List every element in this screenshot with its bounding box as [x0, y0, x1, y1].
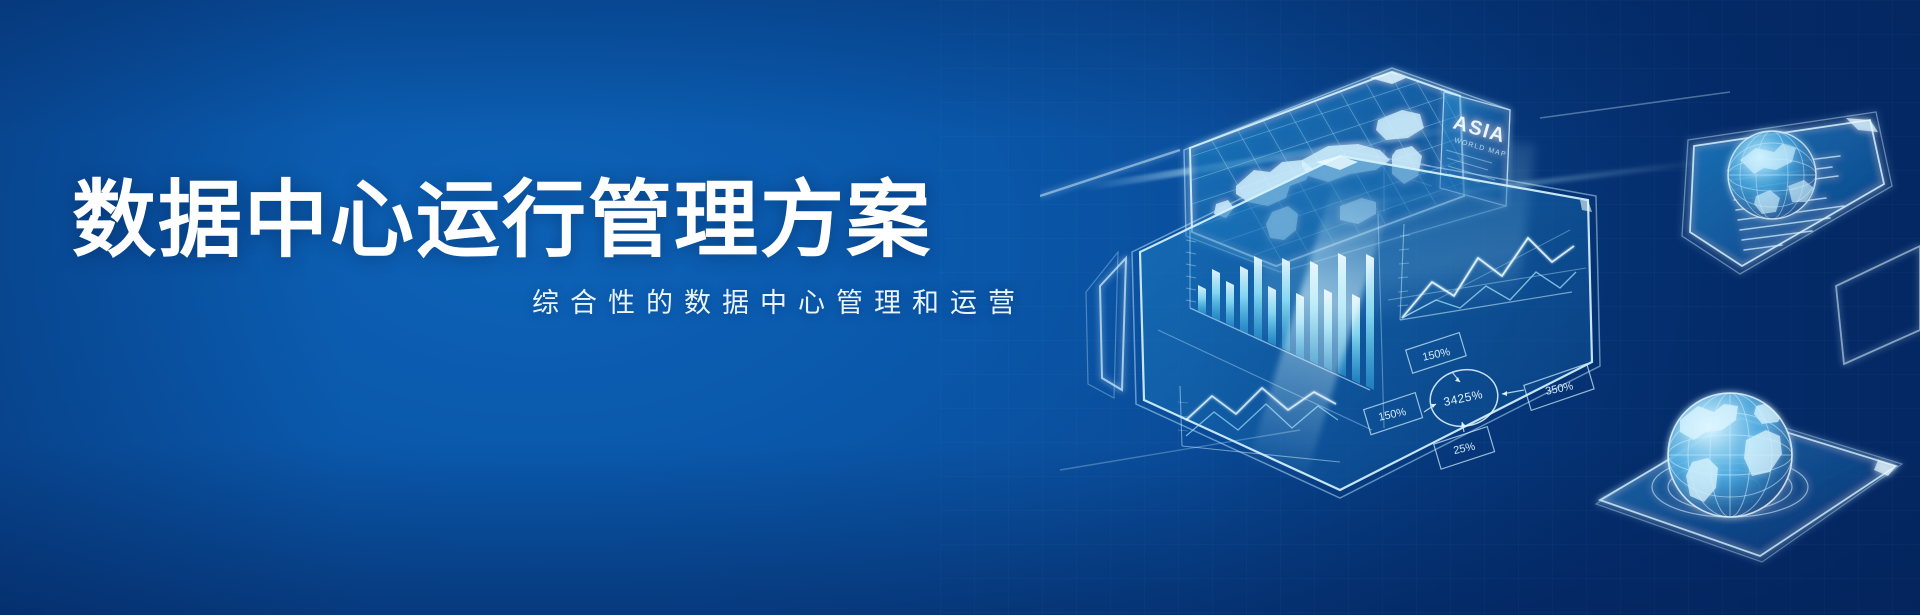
page-subtitle: 综合性的数据中心管理和运营 — [72, 287, 1062, 319]
hero-banner: 数据中心运行管理方案 综合性的数据中心管理和运营 — [0, 0, 1920, 615]
globe-large — [1668, 393, 1792, 517]
globe-platform-group — [1596, 393, 1902, 562]
hologram-illustration: ASIA WORLD MAP — [1040, 0, 1920, 615]
callout-bottom: 25% — [1452, 441, 1476, 457]
globe-small — [1728, 131, 1816, 219]
banner-text-block: 数据中心运行管理方案 综合性的数据中心管理和运营 — [72, 176, 1062, 319]
hologram-svg: ASIA WORLD MAP — [1040, 0, 1920, 615]
page-title: 数据中心运行管理方案 — [72, 176, 1062, 265]
